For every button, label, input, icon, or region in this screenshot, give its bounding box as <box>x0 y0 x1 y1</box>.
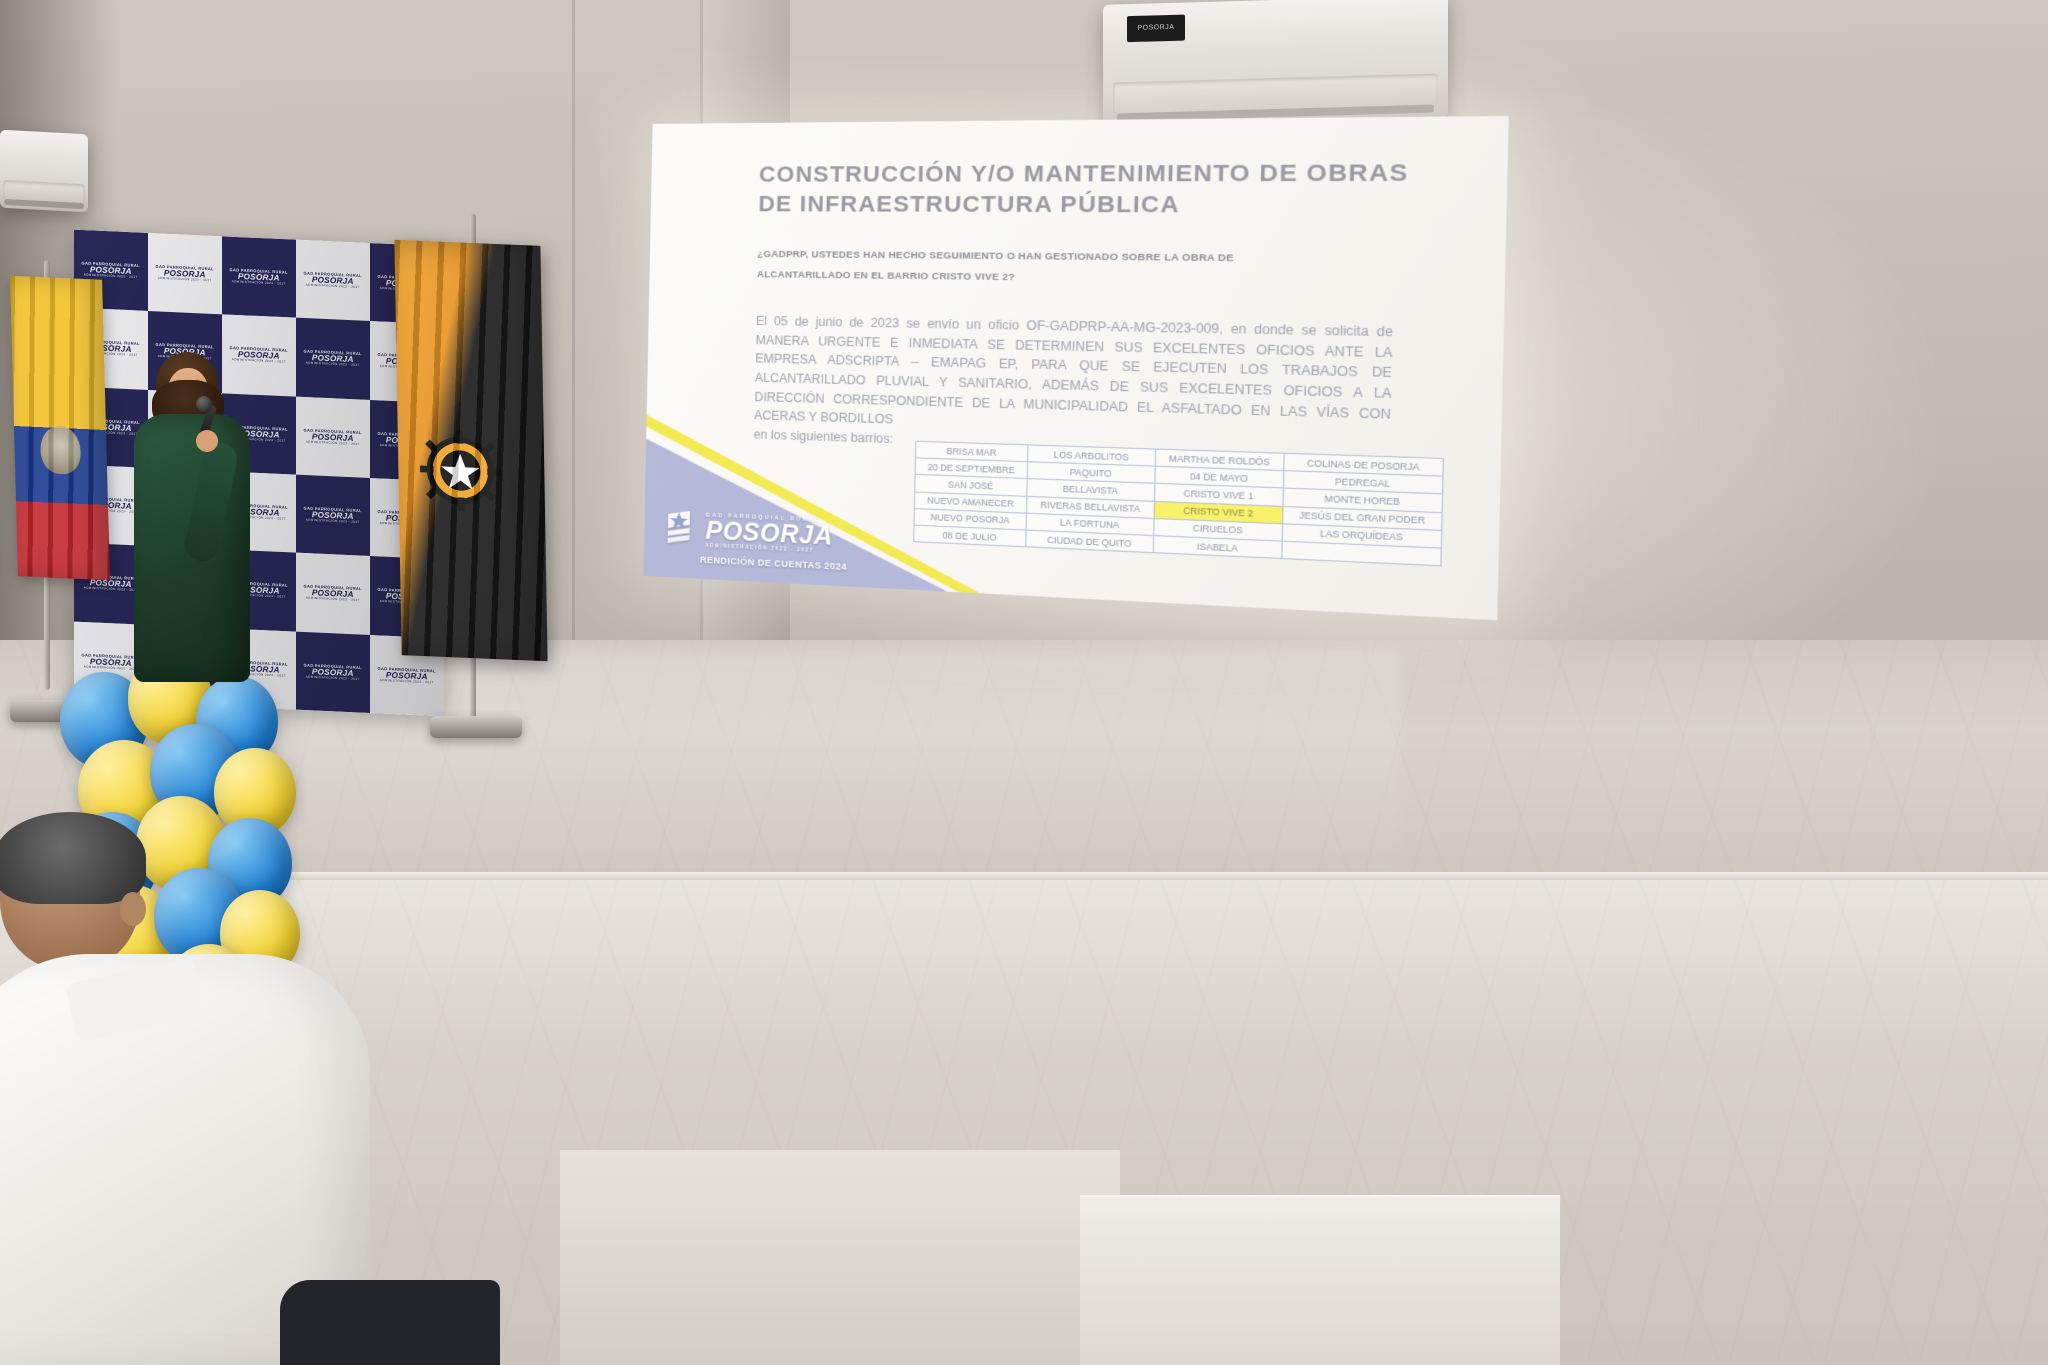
slide-question: ¿GADPRP, USTEDES HAN HECHO SEGUIMIENTO O… <box>757 245 1322 292</box>
audience-ear <box>120 892 146 926</box>
air-conditioner-small <box>0 130 88 213</box>
logo-row: GAD PARROQUIAL RURAL POSORJA ADMINISTRAC… <box>666 510 885 559</box>
slide-logo: GAD PARROQUIAL RURAL POSORJA ADMINISTRAC… <box>665 510 884 574</box>
slide-body-text: El 05 de junio de 2023 se envío un ofici… <box>754 314 1393 427</box>
speaker-hand <box>196 430 218 452</box>
logo-text: GAD PARROQUIAL RURAL POSORJA ADMINISTRAC… <box>705 513 833 554</box>
slide-body: El 05 de junio de 2023 se envío un ofici… <box>753 312 1393 466</box>
flag-posorja <box>394 240 547 661</box>
slide-question-line2: ALCANTARILLADO EN EL BARRIO CRISTO VIVE … <box>757 265 1322 292</box>
audience-lap <box>280 1280 500 1365</box>
flag-stand-posorja <box>430 716 522 738</box>
stage-step-right <box>1080 1195 1560 1365</box>
fabric-folds <box>394 240 547 661</box>
slide: GAD PARROQUIAL RURAL POSORJA ADMINISTRAC… <box>643 116 1508 620</box>
slide-title-line2: DE INFRAESTRUCTURA PÚBLICA <box>758 189 1418 221</box>
audience-person <box>0 820 400 1365</box>
fabric-folds <box>10 276 110 580</box>
speaker-person <box>130 352 250 682</box>
floor-reflection <box>300 650 1400 880</box>
table-cell: 08 DE JULIO <box>914 525 1027 547</box>
barrios-table: BRISA MARLOS ARBOLITOSMARTHA DE ROLDÓSCO… <box>913 441 1444 567</box>
slide-title: CONSTRUCCIÓN Y/O MANTENIMIENTO DE OBRAS … <box>758 157 1418 222</box>
slide-title-line1: CONSTRUCCIÓN Y/O MANTENIMIENTO DE OBRAS <box>759 157 1419 190</box>
air-conditioner-large: POSORJA <box>1103 0 1448 127</box>
microphone-head <box>196 396 212 412</box>
shield-crest-icon <box>666 510 700 550</box>
stage-step-left <box>560 1150 1120 1365</box>
ac-sticker: POSORJA <box>1127 15 1185 43</box>
audience-hair <box>0 812 146 904</box>
presentation-photo: POSORJA GAD PARROQUIAL RURALPOSORJAADMIN… <box>0 0 2048 1365</box>
projection-screen: GAD PARROQUIAL RURAL POSORJA ADMINISTRAC… <box>643 116 1508 620</box>
flag-ecuador <box>10 276 110 580</box>
barrios-table-body: BRISA MARLOS ARBOLITOSMARTHA DE ROLDÓSCO… <box>914 441 1444 566</box>
